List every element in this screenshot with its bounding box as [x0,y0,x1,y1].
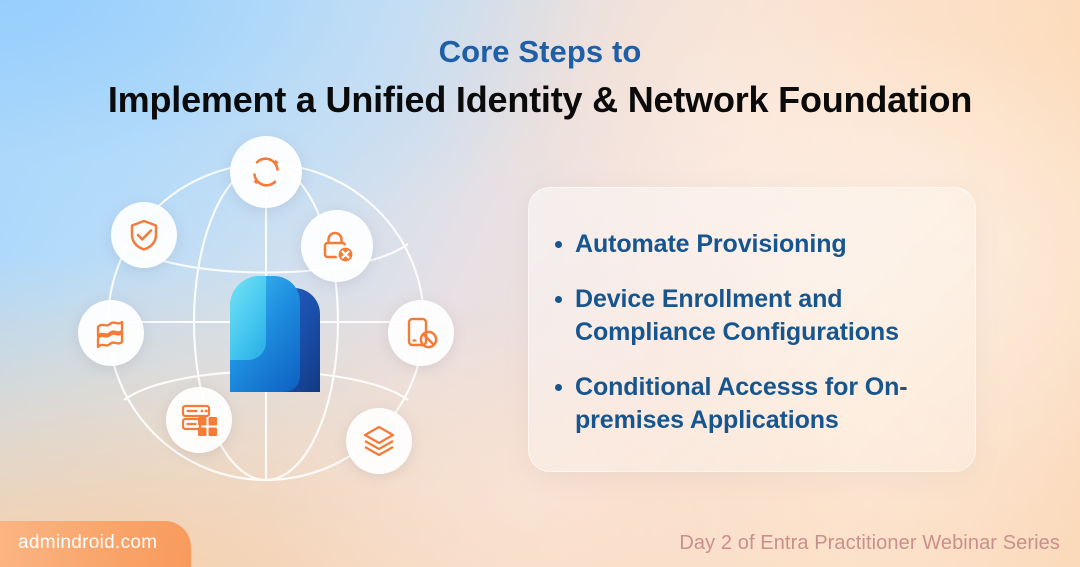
key-points-card: Automate Provisioning Device Enrollment … [528,187,976,472]
icon-bubble-shield-check[interactable] [111,202,177,268]
icon-bubble-network-flow[interactable] [78,300,144,366]
list-item: Conditional Accesss for On-premises Appl… [555,371,949,437]
page-title: Core Steps to Implement a Unified Identi… [0,34,1080,121]
icon-bubble-phone-blocked[interactable] [388,300,454,366]
lock-blocked-icon [317,226,357,266]
microsoft-entra-logo [208,270,328,398]
network-flow-icon [92,314,130,352]
bullet-text: Device Enrollment and Compliance Configu… [575,283,949,349]
title-line-top: Core Steps to [0,34,1080,71]
icon-bubble-sync[interactable] [230,136,302,208]
globe-graphic [58,132,478,512]
brand-badge[interactable]: admindroid.com [0,521,191,567]
phone-blocked-icon [402,314,440,352]
bullet-text: Automate Provisioning [575,228,847,261]
bullet-text: Conditional Accesss for On-premises Appl… [575,371,949,437]
bullet-dot-icon [555,241,562,248]
bullet-dot-icon [555,296,562,303]
list-item: Device Enrollment and Compliance Configu… [555,283,949,349]
icon-bubble-layers[interactable] [346,408,412,474]
dashboard-icon [179,401,219,439]
list-item: Automate Provisioning [555,228,949,261]
icon-bubble-dashboard[interactable] [166,387,232,453]
slide-canvas: Core Steps to Implement a Unified Identi… [0,0,1080,567]
title-line-main: Implement a Unified Identity & Network F… [0,78,1080,121]
layers-icon [360,422,398,460]
shield-check-icon [126,217,162,253]
webinar-series-label: Day 2 of Entra Practitioner Webinar Seri… [679,532,1060,555]
bullet-dot-icon [555,384,562,391]
sync-icon [246,152,286,192]
icon-bubble-lock-blocked[interactable] [301,210,373,282]
